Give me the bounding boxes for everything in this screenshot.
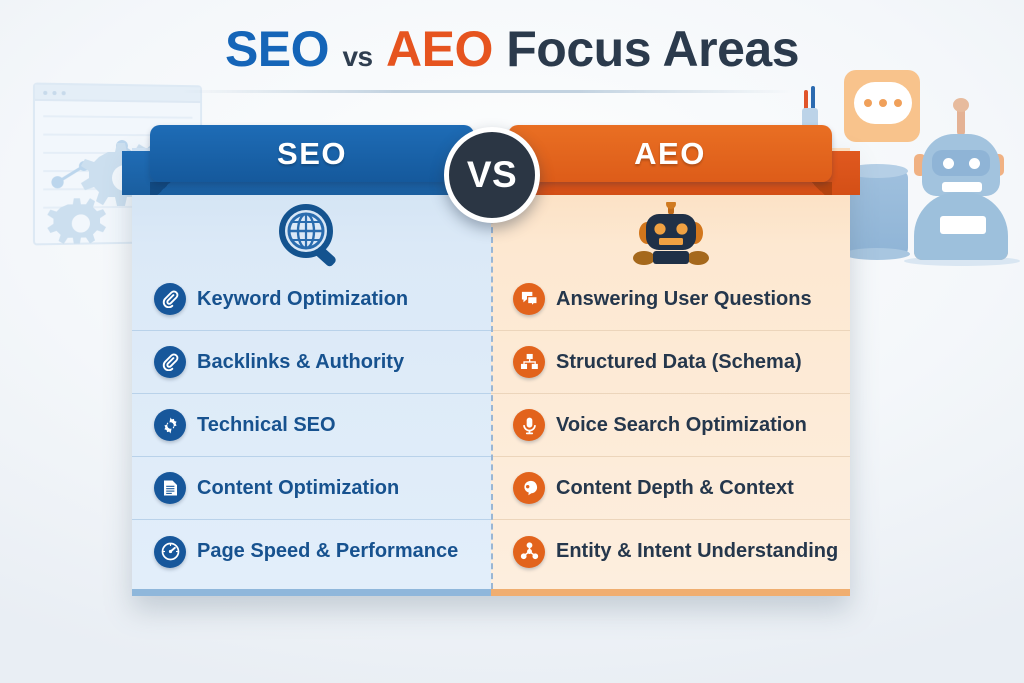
seo-feature-list: Keyword Optimization Backlinks & Authori… <box>132 268 491 583</box>
chat-dot-icon <box>879 99 887 107</box>
gear-icon <box>154 409 186 441</box>
list-item[interactable]: Technical SEO <box>132 394 491 457</box>
vs-badge-label: VS <box>467 154 517 196</box>
network-nodes-icon <box>513 536 545 568</box>
robot-eye-icon <box>969 158 980 169</box>
list-item-label: Voice Search Optimization <box>556 414 807 437</box>
title-aeo: AEO <box>386 21 493 77</box>
document-icon <box>154 472 186 504</box>
gauge-icon <box>154 536 186 568</box>
title-vs: vs <box>342 41 372 72</box>
robot-icon <box>491 200 850 268</box>
list-item-label: Structured Data (Schema) <box>556 351 802 374</box>
title-rest: Focus Areas <box>506 21 799 77</box>
list-item-label: Page Speed & Performance <box>197 540 458 563</box>
chat-dot-icon <box>894 99 902 107</box>
robot-badge-graphic <box>940 216 986 234</box>
aeo-banner-label: AEO <box>634 136 706 172</box>
smart-speaker-base-graphic <box>844 248 910 260</box>
list-item[interactable]: Content Depth & Context <box>491 457 850 520</box>
vs-badge: VS <box>444 127 540 223</box>
robot-eye-icon <box>943 158 954 169</box>
column-aeo: AEO <box>491 148 850 596</box>
list-item-label: Keyword Optimization <box>197 288 408 311</box>
brain-icon <box>513 472 545 504</box>
list-item-label: Backlinks & Authority <box>197 351 404 374</box>
paperclip-icon <box>154 283 186 315</box>
globe-magnifier-icon <box>132 200 491 268</box>
chat-dot-icon <box>864 99 872 107</box>
list-item[interactable]: Entity & Intent Understanding <box>491 520 850 583</box>
paperclip-icon <box>154 346 186 378</box>
robot-mouth-graphic <box>942 182 982 192</box>
title-seo: SEO <box>225 21 329 77</box>
robot-visor-graphic <box>932 150 990 176</box>
infographic-canvas: SEO vs AEO Focus Areas SEO <box>0 0 1024 683</box>
aeo-feature-list: Answering User Questions Structured Data… <box>491 268 850 583</box>
seo-banner-label: SEO <box>277 136 347 172</box>
list-item-label: Content Depth & Context <box>556 477 794 500</box>
list-item-label: Entity & Intent Understanding <box>556 540 838 563</box>
list-item-label: Technical SEO <box>197 414 336 437</box>
column-seo: SEO <box>132 148 491 596</box>
list-item[interactable]: Keyword Optimization <box>132 268 491 331</box>
seo-banner-plate: SEO <box>150 125 474 182</box>
list-item[interactable]: Backlinks & Authority <box>132 331 491 394</box>
title-underline <box>182 90 792 93</box>
microphone-icon <box>513 409 545 441</box>
aeo-banner-plate: AEO <box>508 125 832 182</box>
list-item-label: Content Optimization <box>197 477 399 500</box>
list-item[interactable]: Structured Data (Schema) <box>491 331 850 394</box>
robot-antenna-tip-icon <box>953 98 969 112</box>
seo-banner-fold-left <box>150 182 178 195</box>
list-item[interactable]: Content Optimization <box>132 457 491 520</box>
list-item[interactable]: Page Speed & Performance <box>132 520 491 583</box>
list-item[interactable]: Answering User Questions <box>491 268 850 331</box>
list-item[interactable]: Voice Search Optimization <box>491 394 850 457</box>
page-title: SEO vs AEO Focus Areas <box>0 20 1024 78</box>
chat-bubbles-icon <box>513 283 545 315</box>
list-item-label: Answering User Questions <box>556 288 812 311</box>
sitemap-icon <box>513 346 545 378</box>
aeo-banner-fold-right <box>804 182 832 195</box>
